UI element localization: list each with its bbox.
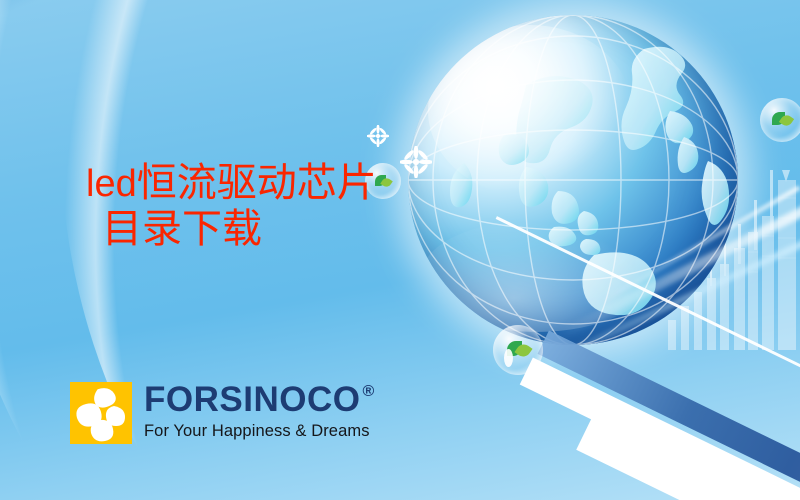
thin-white-stripe (496, 216, 800, 447)
headline-cjk: 恒流驱动芯片 (137, 160, 377, 205)
logo-tagline: For Your Happiness & Dreams (144, 422, 375, 441)
headline-line-2: 目录下载 (102, 206, 377, 252)
eco-leaf-bubble-icon (493, 325, 543, 375)
logo-wordmark: FORSINOCO ® (144, 382, 375, 417)
headline-latin: led (86, 163, 137, 205)
logo-text-block: FORSINOCO ® For Your Happiness & Dreams (144, 382, 375, 441)
logo-wordmark-text: FORSINOCO (144, 382, 360, 417)
four-petal-flower-icon (70, 382, 132, 444)
headline-text: led恒流驱动芯片 目录下载 (86, 160, 377, 253)
company-logo: FORSINOCO ® For Your Happiness & Dreams (70, 382, 375, 444)
banner-canvas: led恒流驱动芯片 目录下载 FORSINOCO ® For Your Happ… (0, 0, 800, 500)
sparkle-flower-icon (400, 146, 432, 178)
headline-line-1: led恒流驱动芯片 (86, 160, 377, 206)
registered-trademark-icon: ® (362, 384, 374, 400)
sparkle-flower-icon (367, 125, 389, 147)
eco-leaf-bubble-icon (760, 98, 800, 142)
